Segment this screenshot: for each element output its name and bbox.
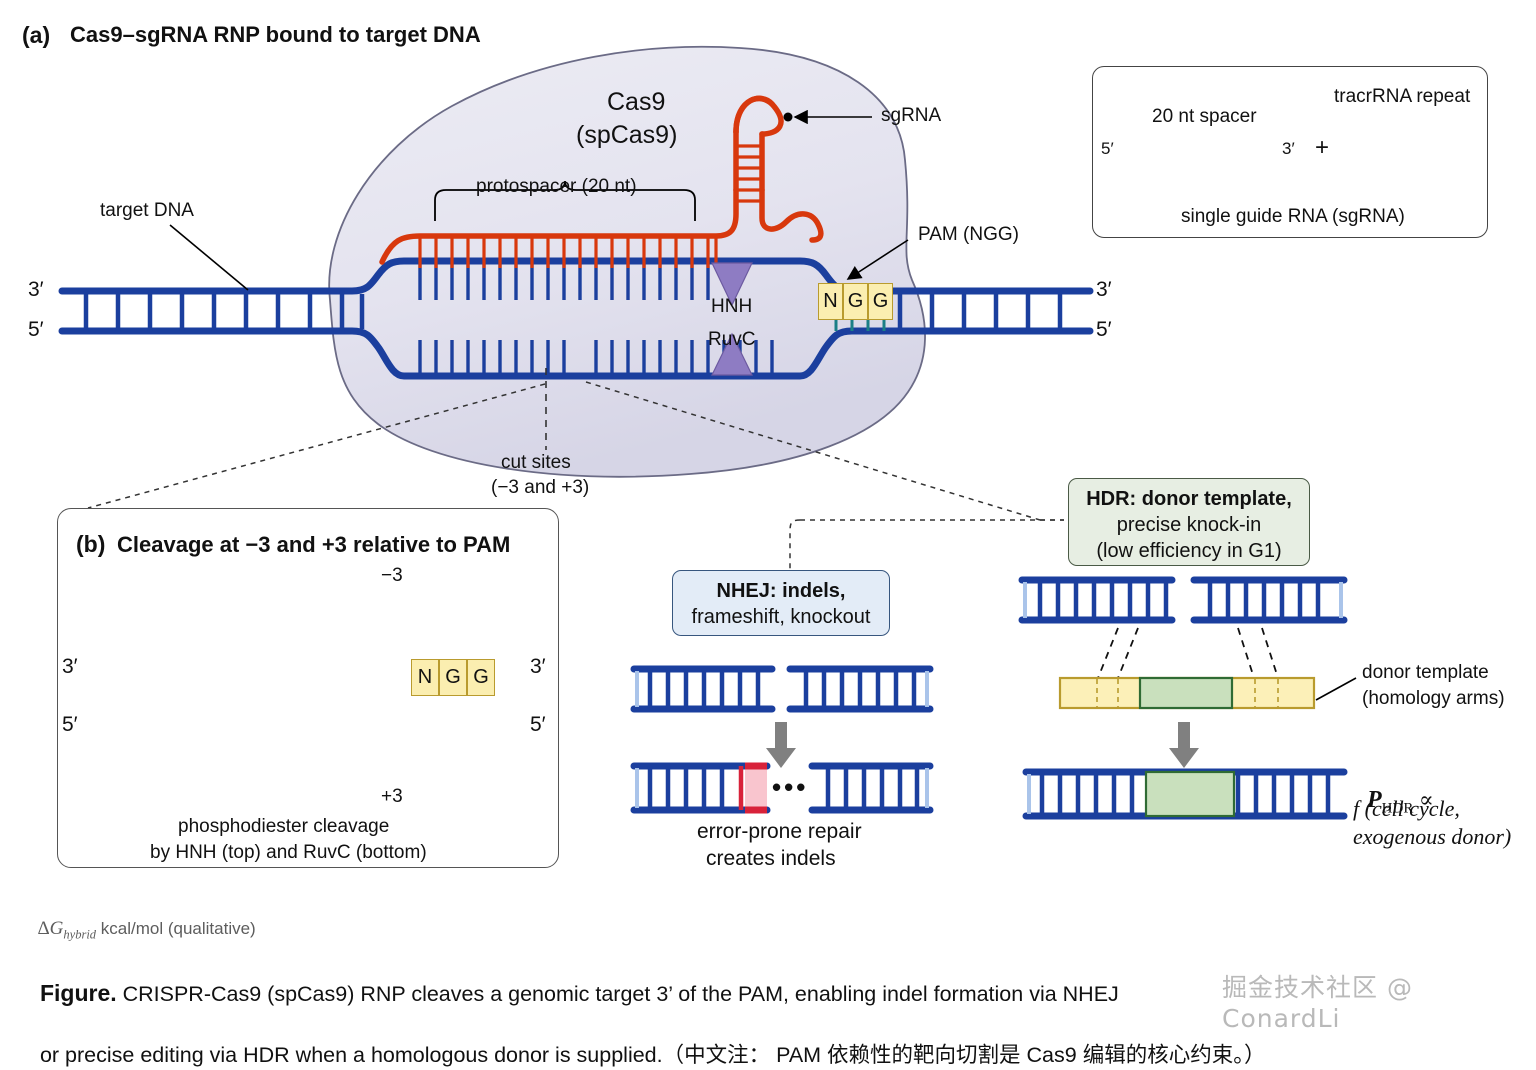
pam-base-n: N — [818, 283, 843, 320]
donor-template-bar — [1060, 678, 1314, 708]
figure-caption-line1: CRISPR-Cas9 (spCas9) RNP cleaves a genom… — [117, 982, 1119, 1006]
cut-sites-label-line1: cut sites — [501, 452, 571, 474]
inset-plus-sign: + — [1315, 134, 1329, 162]
delta-symbol: Δ — [37, 918, 49, 939]
panel-a-tag: (a) — [22, 22, 50, 49]
panel-b-footer-line1: phosphodiester cleavage — [178, 816, 389, 838]
panel-a-right-5prime: 5′ — [1096, 318, 1112, 343]
panel-a-right-3prime: 3′ — [1096, 278, 1112, 303]
pam-label: PAM (NGG) — [918, 224, 1019, 246]
cut-bottom-label: +3 — [381, 786, 403, 808]
nhej-callout-box: NHEJ: indels, frameshift, knockout — [672, 570, 890, 636]
pam-base-g1: G — [843, 283, 868, 320]
hdr-graphics — [1022, 580, 1356, 816]
panel-a-left-5prime: 5′ — [28, 318, 44, 343]
panel-b-left-5prime: 5′ — [62, 713, 78, 738]
figure-root: (a) Cas9–sgRNA RNP bound to target DNA C… — [0, 0, 1536, 1024]
nhej-arrow-icon — [766, 722, 796, 768]
hdr-fragment-left — [1022, 580, 1172, 620]
hdr-formula-line3: exogenous donor) — [1353, 824, 1511, 850]
hdr-box-line2: precise knock-in — [1081, 512, 1297, 538]
panel-b-footer-line2: by HNH (top) and RuvC (bottom) — [150, 842, 427, 864]
cut-top-label: −3 — [381, 565, 403, 587]
hdr-box-line3: (low efficiency in G1) — [1081, 538, 1297, 564]
panel-b-pam-base-g2: G — [467, 659, 495, 696]
panel-a-left-3prime: 3′ — [28, 278, 44, 303]
donor-template-label-line1: donor template — [1362, 662, 1489, 684]
watermark: 掘金技术社区 @ ConardLi — [1222, 968, 1536, 1033]
hdr-box-line1: HDR: donor template, — [1081, 486, 1297, 512]
spacer-label: 20 nt spacer — [1152, 106, 1257, 128]
protospacer-label: protospacer (20 nt) — [476, 176, 637, 198]
ruvc-label: RuvC — [708, 329, 756, 351]
delta-g-subscript: hybrid — [63, 927, 96, 941]
figure-caption-cn: （中文注： PAM 依赖性的靶向切割是 Cas9 编辑的核心约束。） — [663, 1043, 1266, 1067]
sgrna-label: sgRNA — [881, 105, 941, 127]
panel-b-left-3prime: 3′ — [62, 655, 78, 680]
hdr-fragment-right — [1194, 580, 1344, 620]
nhej-box-line1: NHEJ: indels, — [685, 578, 877, 604]
nhej-box-line2: frameshift, knockout — [685, 604, 877, 630]
hnh-label: HNH — [711, 296, 752, 318]
hdr-callout-box: HDR: donor template, precise knock-in (l… — [1068, 478, 1310, 566]
hdr-repaired-duplex — [1026, 772, 1344, 816]
cut-sites-label-line2: (−3 and +3) — [491, 477, 589, 499]
hdr-formula-line2: f (cell cycle, — [1353, 796, 1460, 822]
cas9-sub-label: (spCas9) — [576, 121, 677, 151]
hdr-arrow-icon — [1169, 722, 1199, 768]
nhej-caption-line2: creates indels — [706, 847, 836, 872]
figure-caption-tag: Figure. — [40, 980, 117, 1006]
pam-base-g2: G — [868, 283, 893, 320]
inset-3prime: 3′ — [1282, 139, 1295, 159]
nhej-repaired-left — [634, 765, 767, 811]
delta-g-letter: G — [50, 918, 64, 939]
panel-b-title: Cleavage at −3 and +3 relative to PAM — [117, 532, 510, 558]
panel-b-pam-base-n: N — [411, 659, 439, 696]
sgrna-bracket-label: single guide RNA (sgRNA) — [1181, 206, 1405, 228]
target-dna-label: target DNA — [100, 200, 194, 222]
tracrrna-label: tracrRNA repeat — [1334, 86, 1470, 108]
cas9-name-label: Cas9 — [607, 88, 665, 118]
nhej-caption-line1: error-prone repair — [697, 820, 862, 845]
donor-template-label-line2: (homology arms) — [1362, 688, 1505, 710]
panel-b-tag: (b) — [76, 531, 105, 558]
nhej-fragment-left-top — [634, 669, 772, 709]
panel-a-title: Cas9–sgRNA RNP bound to target DNA — [70, 22, 481, 48]
nhej-repaired-right — [812, 766, 930, 810]
panel-b-right-3prime: 3′ — [530, 655, 546, 680]
figure-caption-line2: or precise editing via HDR when a homolo… — [40, 1043, 663, 1067]
inset-5prime: 5′ — [1101, 139, 1114, 159]
nhej-fragment-right-top — [790, 669, 930, 709]
panel-b-right-5prime: 5′ — [530, 713, 546, 738]
delta-g-rest: kcal/mol (qualitative) — [96, 919, 256, 938]
nhej-ellipsis: ••• — [772, 772, 808, 803]
delta-g-note: ΔGhybrid kcal/mol (qualitative) — [28, 898, 256, 942]
panel-b-pam-base-g1: G — [439, 659, 467, 696]
